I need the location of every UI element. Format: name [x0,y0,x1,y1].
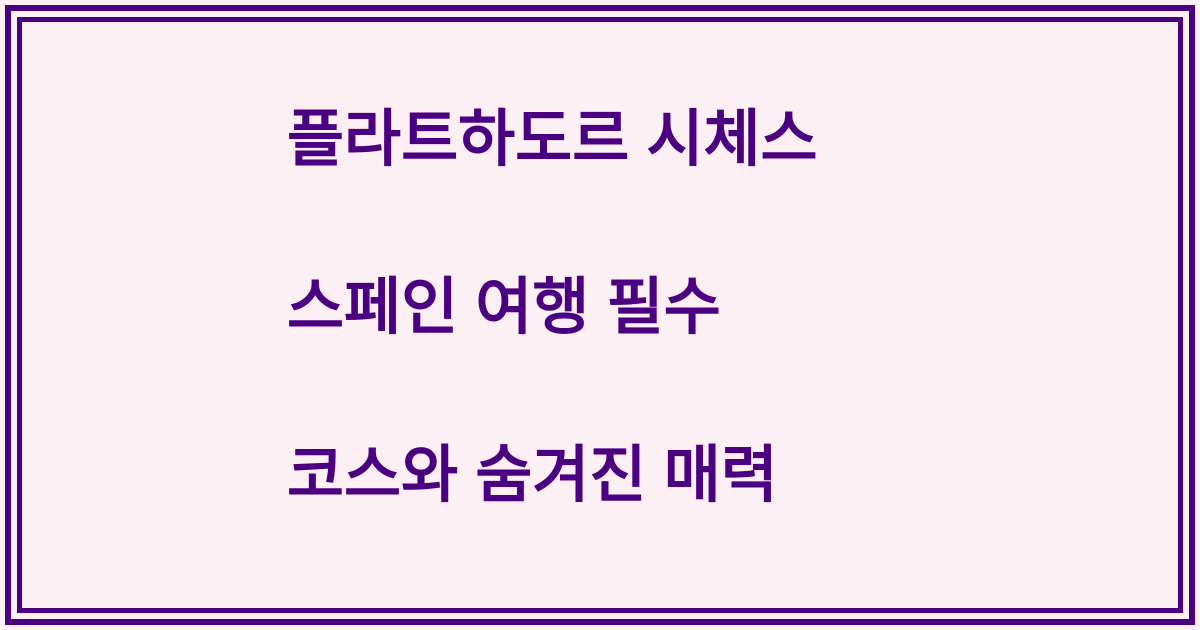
title-line-2: 스페인 여행 필수 [287,266,818,350]
title-line-3: 코스와 숨겨진 매력 [287,434,818,518]
thumbnail-card: 플라트하도르 시체스 스페인 여행 필수 코스와 숨겨진 매력 [0,0,1200,630]
outer-border-frame: 플라트하도르 시체스 스페인 여행 필수 코스와 숨겨진 매력 [5,5,1195,625]
title-line-1: 플라트하도르 시체스 [287,98,818,182]
inner-border-frame: 플라트하도르 시체스 스페인 여행 필수 코스와 숨겨진 매력 [17,17,1183,613]
page-title: 플라트하도르 시체스 스페인 여행 필수 코스와 숨겨진 매력 [287,14,818,602]
card-content: 플라트하도르 시체스 스페인 여행 필수 코스와 숨겨진 매력 [22,22,1178,608]
